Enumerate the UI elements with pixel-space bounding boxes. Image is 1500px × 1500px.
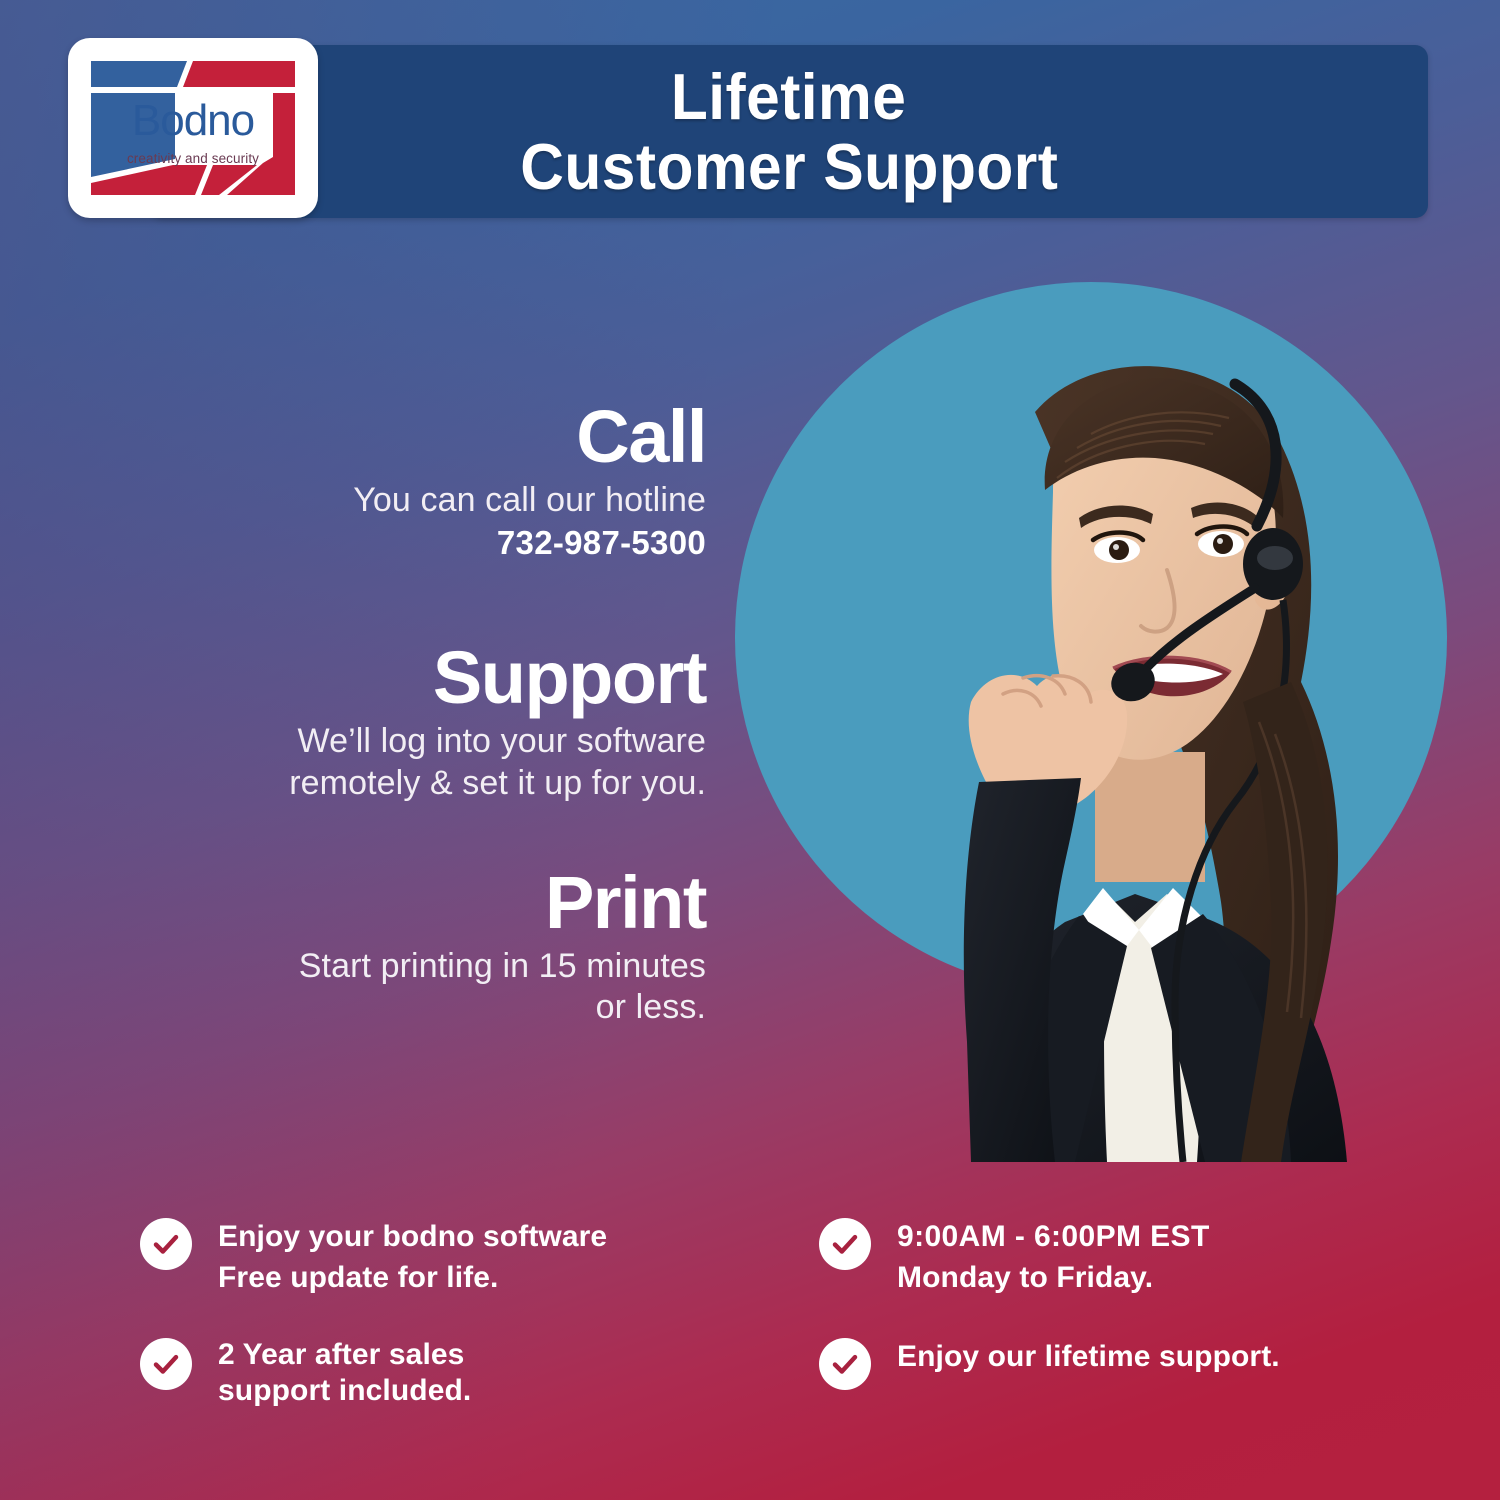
feature-call: Call You can call our hotline 732-987-53… [140,400,706,563]
feature-support-heading: Support [140,641,706,715]
check-circle-icon [140,1218,192,1270]
logo-wordmark: Bodno [77,99,309,143]
logo-card-graphic: Bodno creativity and security [77,47,309,209]
list-item-text: Enjoy your bodno software Free update fo… [218,1216,607,1298]
list-item-text: 2 Year after sales support included. [218,1336,471,1408]
check-circle-icon [140,1338,192,1390]
list-item: 2 Year after sales support included. [140,1336,691,1408]
bodno-logo: Bodno creativity and security [68,38,318,218]
feature-support-subtext-line1: We’ll log into your software [140,721,706,762]
header-banner: Lifetime Customer Support [150,45,1428,218]
hotline-phone-number[interactable]: 732-987-5300 [140,523,706,563]
checkmark-icon [151,1229,181,1259]
list-item: Enjoy your bodno software Free update fo… [140,1216,691,1298]
benefits-checklist: Enjoy your bodno software Free update fo… [140,1216,1370,1408]
list-item-line1: 2 Year after sales [218,1338,464,1371]
logo-tagline: creativity and security [77,151,309,166]
list-item: Enjoy our lifetime support. [819,1336,1370,1390]
checkmark-icon [830,1229,860,1259]
list-item-line2: Free update for life. [218,1258,607,1299]
checklist-column-left: Enjoy your bodno software Free update fo… [140,1216,691,1408]
list-item-line1: 9:00AM - 6:00PM EST [897,1220,1210,1253]
feature-support: Support We’ll log into your software rem… [140,641,706,804]
feature-call-heading: Call [140,400,706,474]
list-item-text: 9:00AM - 6:00PM EST Monday to Friday. [897,1216,1210,1298]
feature-list: Call You can call our hotline 732-987-53… [140,400,706,1029]
list-item: 9:00AM - 6:00PM EST Monday to Friday. [819,1216,1370,1298]
list-item-line1: Enjoy your bodno software [218,1220,607,1253]
feature-call-subtext: You can call our hotline [140,480,706,521]
list-item-text: Enjoy our lifetime support. [897,1336,1280,1378]
check-circle-icon [819,1338,871,1390]
header-title-line2: Customer Support [520,135,1058,199]
support-poster: Lifetime Customer Support Bodno [0,0,1500,1500]
checkmark-icon [830,1349,860,1379]
photo-circle-backdrop [735,282,1447,994]
feature-print: Print Start printing in 15 minutes or le… [140,866,706,1029]
feature-support-subtext-line2: remotely & set it up for you. [140,763,706,804]
list-item-line1: Enjoy our lifetime support. [897,1340,1280,1373]
list-item-line2: Monday to Friday. [897,1258,1210,1299]
list-item-line2: support included. [218,1373,471,1408]
feature-print-subtext-line1: Start printing in 15 minutes [140,946,706,987]
header-title-line1: Lifetime [671,65,906,129]
feature-print-subtext-line2: or less. [140,987,706,1028]
checkmark-icon [151,1349,181,1379]
check-circle-icon [819,1218,871,1270]
checklist-column-right: 9:00AM - 6:00PM EST Monday to Friday. En… [819,1216,1370,1408]
feature-print-heading: Print [140,866,706,940]
